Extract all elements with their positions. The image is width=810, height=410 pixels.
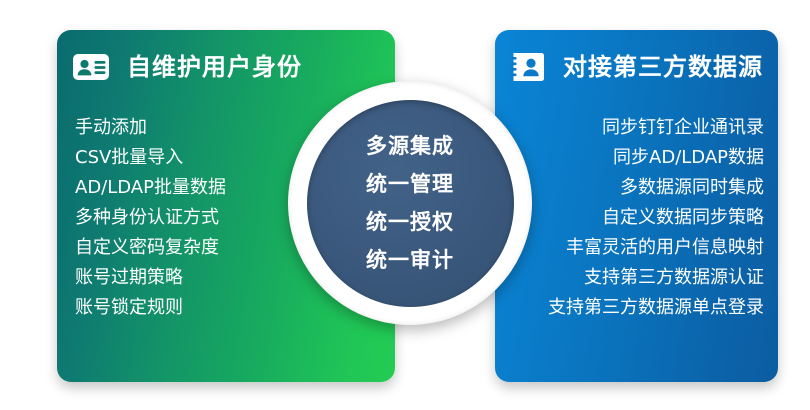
left-panel-title: 自维护用户身份 xyxy=(127,55,302,79)
right-panel: 对接第三方数据源 同步钉钉企业通讯录 同步AD/LDAP数据 多数据源同时集成 … xyxy=(495,30,778,382)
id-card-icon xyxy=(71,47,111,87)
hub-line: 统一审计 xyxy=(366,241,454,279)
list-item: 丰富灵活的用户信息映射 xyxy=(548,233,764,263)
list-item: 账号过期策略 xyxy=(75,263,226,293)
list-item: 手动添加 xyxy=(75,113,226,143)
left-panel-feature-list: 手动添加 CSV批量导入 AD/LDAP批量数据 多种身份认证方式 自定义密码复… xyxy=(75,113,226,323)
list-item: AD/LDAP批量数据 xyxy=(75,173,226,203)
list-item: 多种身份认证方式 xyxy=(75,203,226,233)
address-book-icon xyxy=(507,47,547,87)
list-item: 支持第三方数据源认证 xyxy=(548,263,764,293)
right-panel-header: 对接第三方数据源 xyxy=(507,47,763,87)
center-hub-disc: 多源集成 统一管理 统一授权 统一审计 xyxy=(307,100,514,307)
diagram-canvas: 自维护用户身份 手动添加 CSV批量导入 AD/LDAP批量数据 多种身份认证方… xyxy=(0,0,810,410)
hub-line: 统一管理 xyxy=(366,165,454,203)
right-panel-feature-list: 同步钉钉企业通讯录 同步AD/LDAP数据 多数据源同时集成 自定义数据同步策略… xyxy=(548,113,764,323)
list-item: 同步AD/LDAP数据 xyxy=(548,143,764,173)
list-item: 自定义数据同步策略 xyxy=(548,203,764,233)
list-item: 多数据源同时集成 xyxy=(548,173,764,203)
right-panel-title: 对接第三方数据源 xyxy=(563,55,763,79)
list-item: 账号锁定规则 xyxy=(75,293,226,323)
hub-line: 多源集成 xyxy=(366,127,454,165)
center-hub-ring: 多源集成 统一管理 统一授权 统一审计 xyxy=(288,81,532,325)
list-item: 同步钉钉企业通讯录 xyxy=(548,113,764,143)
hub-line: 统一授权 xyxy=(366,203,454,241)
list-item: CSV批量导入 xyxy=(75,143,226,173)
left-panel-header: 自维护用户身份 xyxy=(71,47,302,87)
list-item: 自定义密码复杂度 xyxy=(75,233,226,263)
list-item: 支持第三方数据源单点登录 xyxy=(548,293,764,323)
